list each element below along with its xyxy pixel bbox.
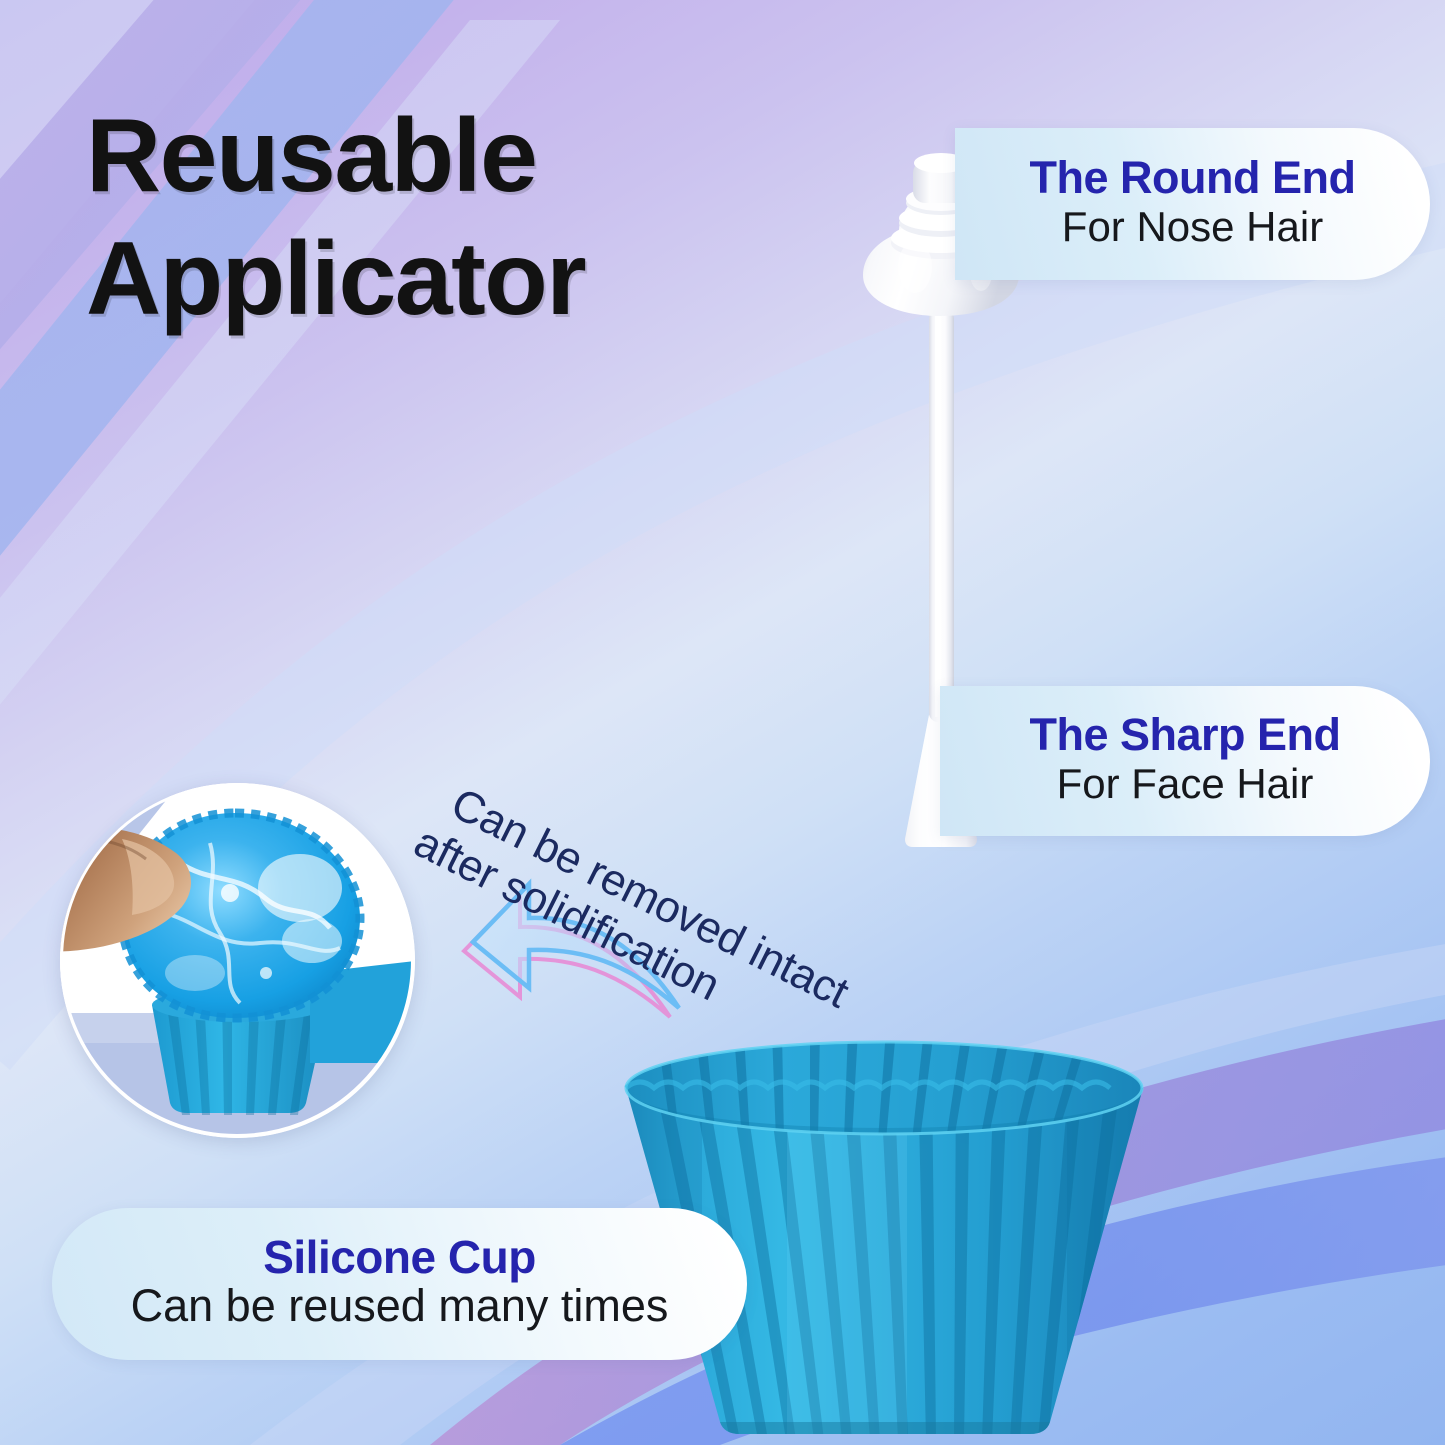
callout-silicone-cup: Silicone Cup Can be reused many times xyxy=(52,1208,747,1360)
finger-peeling-blue-gel-photo xyxy=(60,783,415,1138)
page-title: Reusable Applicator xyxy=(86,95,886,340)
callout-sharp-end-subtitle: For Face Hair xyxy=(1057,761,1314,806)
infographic-canvas: Reusable Applicator xyxy=(0,0,1445,1445)
callout-sharp-end: The Sharp End For Face Hair xyxy=(940,686,1430,836)
page-title-line-1: Reusable xyxy=(86,98,536,214)
page-title-line-2: Applicator xyxy=(86,218,886,341)
callout-round-end-subtitle: For Nose Hair xyxy=(1062,204,1323,249)
callout-round-end-title: The Round End xyxy=(1030,155,1356,202)
callout-sharp-end-title: The Sharp End xyxy=(1029,712,1340,759)
callout-silicone-cup-subtitle: Can be reused many times xyxy=(131,1282,669,1331)
callout-silicone-cup-title: Silicone Cup xyxy=(263,1234,536,1282)
callout-round-end: The Round End For Nose Hair xyxy=(955,128,1430,280)
